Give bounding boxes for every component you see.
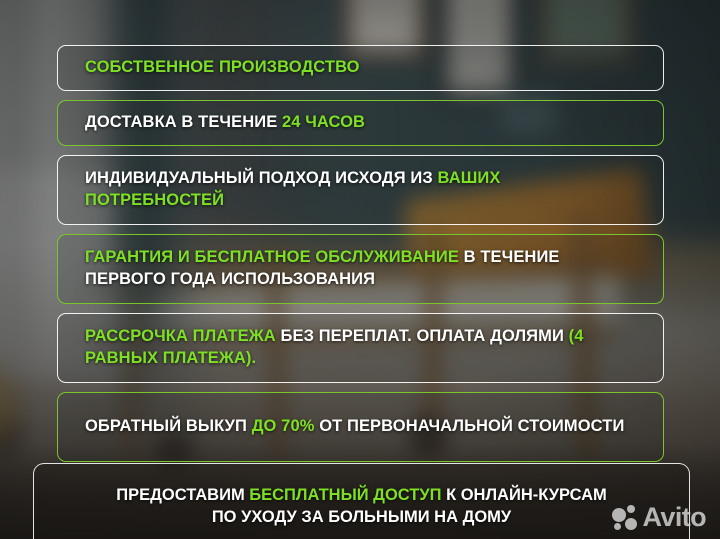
benefit-card-text: РАССРОЧКА ПЛАТЕЖА БЕЗ ПЕРЕПЛАТ. ОПЛАТА Д… <box>85 326 636 370</box>
avito-wordmark: Avito <box>643 504 707 531</box>
bonus-card: ПРЕДОСТАВИМ БЕСПЛАТНЫЙ ДОСТУП К ОНЛАЙН-К… <box>33 463 690 539</box>
avito-watermark: Avito <box>612 504 707 531</box>
benefit-card: ГАРАНТИЯ И БЕСПЛАТНОЕ ОБСЛУЖИВАНИЕ В ТЕЧ… <box>57 234 664 304</box>
plain-text: ОТ ПЕРВОНАЧАЛЬНОЙ СТОИМОСТИ <box>315 417 625 435</box>
plain-text: ИНДИВИДУАЛЬНЫЙ ПОДХОД ИСХОДЯ ИЗ <box>85 169 438 187</box>
plain-text: ОБРАТНЫЙ ВЫКУП <box>85 417 252 435</box>
benefit-card-list: СОБСТВЕННОЕ ПРОИЗВОДСТВОДОСТАВКА В ТЕЧЕН… <box>57 45 664 471</box>
benefit-card: РАССРОЧКА ПЛАТЕЖА БЕЗ ПЕРЕПЛАТ. ОПЛАТА Д… <box>57 313 664 383</box>
highlighted-text: СОБСТВЕННОЕ ПРОИЗВОДСТВО <box>85 58 360 76</box>
benefit-card-text: ОБРАТНЫЙ ВЫКУП ДО 70% ОТ ПЕРВОНАЧАЛЬНОЙ … <box>85 416 624 438</box>
benefit-card: ИНДИВИДУАЛЬНЫЙ ПОДХОД ИСХОДЯ ИЗ ВАШИХ ПО… <box>57 155 664 225</box>
avito-dots-icon <box>612 505 639 530</box>
benefit-card: СОБСТВЕННОЕ ПРОИЗВОДСТВО <box>57 45 664 91</box>
highlighted-text: ГАРАНТИЯ И БЕСПЛАТНОЕ ОБСЛУЖИВАНИЕ <box>85 248 459 266</box>
promo-banner: СОБСТВЕННОЕ ПРОИЗВОДСТВОДОСТАВКА В ТЕЧЕН… <box>0 0 720 539</box>
highlighted-text: БЕСПЛАТНЫЙ ДОСТУП <box>249 486 441 504</box>
plain-text: ПРЕДОСТАВИМ <box>116 486 249 504</box>
benefit-card-text: СОБСТВЕННОЕ ПРОИЗВОДСТВО <box>85 57 360 79</box>
highlighted-text: РАССРОЧКА ПЛАТЕЖА <box>85 327 276 345</box>
plain-text: К ОНЛАЙН-КУРСАМ <box>441 486 606 504</box>
benefit-card-text: ИНДИВИДУАЛЬНЫЙ ПОДХОД ИСХОДЯ ИЗ ВАШИХ ПО… <box>85 168 636 212</box>
benefit-card-text: ГАРАНТИЯ И БЕСПЛАТНОЕ ОБСЛУЖИВАНИЕ В ТЕЧ… <box>85 247 636 291</box>
highlighted-text: ДО 70% <box>252 417 315 435</box>
benefit-card-text: ДОСТАВКА В ТЕЧЕНИЕ 24 ЧАСОВ <box>85 112 365 134</box>
benefit-card: ОБРАТНЫЙ ВЫКУП ДО 70% ОТ ПЕРВОНАЧАЛЬНОЙ … <box>57 392 664 462</box>
highlighted-text: 24 ЧАСОВ <box>282 113 365 131</box>
plain-text: ПО УХОДУ ЗА БОЛЬНЫМИ НА ДОМУ <box>212 508 511 526</box>
bonus-card-text: ПРЕДОСТАВИМ БЕСПЛАТНЫЙ ДОСТУП К ОНЛАЙН-К… <box>116 484 607 528</box>
plain-text: БЕЗ ПЕРЕПЛАТ. ОПЛАТА ДОЛЯМИ <box>276 327 569 345</box>
plain-text: ДОСТАВКА В ТЕЧЕНИЕ <box>85 113 282 131</box>
benefit-card: ДОСТАВКА В ТЕЧЕНИЕ 24 ЧАСОВ <box>57 100 664 146</box>
